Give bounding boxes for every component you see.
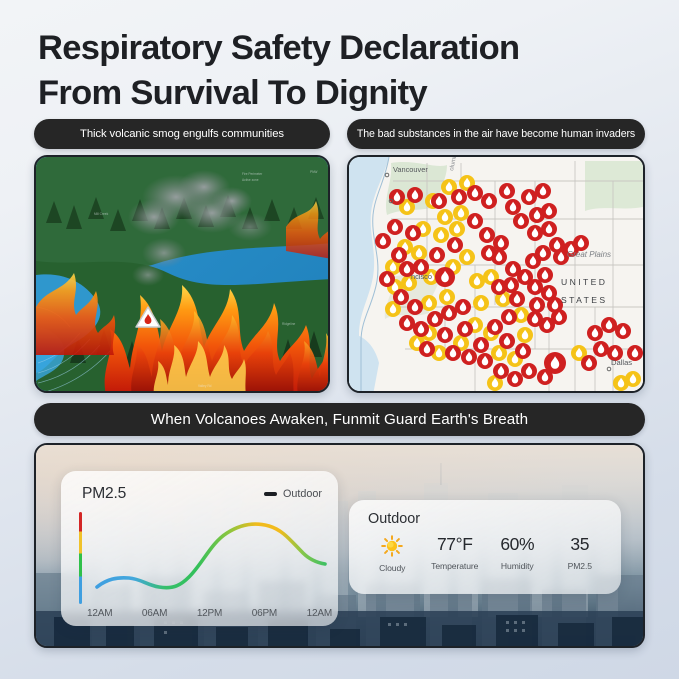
wildfire-illustration: Mill CreekFire Perimeter Active zoneRidg… — [36, 157, 330, 393]
metric-weather-label: Cloudy — [361, 563, 424, 573]
metric-weather: Cloudy — [361, 536, 424, 573]
caption-pill-left-label: Thick volcanic smog engulfs communities — [80, 128, 284, 140]
air-quality-scale-bar — [79, 512, 82, 604]
outdoor-metrics-row: Cloudy 77°F Temperature 60% Humidity 35 … — [361, 536, 611, 573]
caption-pill-left: Thick volcanic smog engulfs communities — [34, 119, 330, 149]
map-label-great-plains: Great Plains — [567, 250, 611, 259]
svg-text:Mill Creek: Mill Creek — [94, 212, 109, 216]
chart-x-axis: 12AM 06AM 12PM 06PM 12AM — [87, 608, 332, 619]
caption-pill-middle: When Volcanoes Awaken, Funmit Guard Eart… — [34, 403, 645, 436]
page-title-line-1: Respiratory Safety Declaration — [38, 29, 519, 67]
svg-text:Fire Perimeter: Fire Perimeter — [242, 172, 263, 176]
svg-text:Ridgeline: Ridgeline — [282, 322, 296, 326]
map-label-vancouver: Vancouver — [393, 165, 428, 174]
pm25-line-plot — [93, 507, 329, 603]
wildfire-map-panel: Vancouver Great Plains UNITED STATES Dal… — [347, 155, 645, 393]
chart-legend: Outdoor — [264, 488, 322, 500]
page-title-line-2: From Survival To Dignity — [38, 71, 646, 116]
legend-label-outdoor: Outdoor — [283, 488, 322, 500]
pm25-chart-card: PM2.5 Outdoor — [61, 471, 338, 626]
x-tick-1: 06AM — [142, 608, 167, 619]
metric-pm25-value: 35 — [549, 536, 612, 554]
map-label-dallas: Dallas — [611, 358, 632, 367]
metric-temperature-label: Temperature — [424, 561, 487, 571]
outdoor-metrics-card: Outdoor — [349, 500, 621, 594]
caption-pill-right-label: The bad substances in the air have becom… — [357, 128, 635, 140]
map-label-states: STATES — [561, 295, 608, 305]
sun-icon — [361, 536, 424, 556]
wildfire-photo-panel: Mill CreekFire Perimeter Active zoneRidg… — [34, 155, 330, 393]
wildfire-aerial-photo: Mill CreekFire Perimeter Active zoneRidg… — [36, 157, 328, 391]
caption-pill-right: The bad substances in the air have becom… — [347, 119, 645, 149]
metric-humidity-value: 60% — [486, 536, 549, 554]
caption-pill-middle-label: When Volcanoes Awaken, Funmit Guard Eart… — [151, 411, 528, 428]
metric-temperature-value: 77°F — [424, 536, 487, 554]
legend-swatch-outdoor — [264, 492, 277, 495]
outdoor-card-title: Outdoor — [368, 511, 420, 527]
metric-humidity-label: Humidity — [486, 561, 549, 571]
x-tick-3: 06PM — [252, 608, 277, 619]
x-tick-4: 12AM — [307, 608, 332, 619]
map-label-united: UNITED — [561, 277, 607, 287]
svg-text:Active zone: Active zone — [242, 178, 259, 182]
map-illustration: Vancouver Great Plains UNITED STATES Dal… — [349, 157, 645, 393]
metric-pm25-label: PM2.5 — [549, 561, 612, 571]
x-tick-2: 12PM — [197, 608, 222, 619]
pm25-curve — [93, 507, 329, 603]
chart-title: PM2.5 — [82, 485, 126, 503]
metric-pm25: 35 PM2.5 — [549, 536, 612, 573]
svg-text:PNW: PNW — [310, 170, 317, 174]
page-title: Respiratory Safety Declaration From Surv… — [38, 26, 646, 116]
app-dashboard-panel: PM2.5 Outdoor — [34, 443, 645, 648]
x-tick-0: 12AM — [87, 608, 112, 619]
svg-text:Valley Rd: Valley Rd — [198, 384, 212, 388]
wildfire-incident-map: Vancouver Great Plains UNITED STATES Dal… — [349, 157, 643, 391]
metric-humidity: 60% Humidity — [486, 536, 549, 573]
metric-temperature: 77°F Temperature — [424, 536, 487, 573]
poster-root: Respiratory Safety Declaration From Surv… — [0, 0, 679, 679]
map-label-san-francisco: ncisco — [411, 272, 432, 281]
